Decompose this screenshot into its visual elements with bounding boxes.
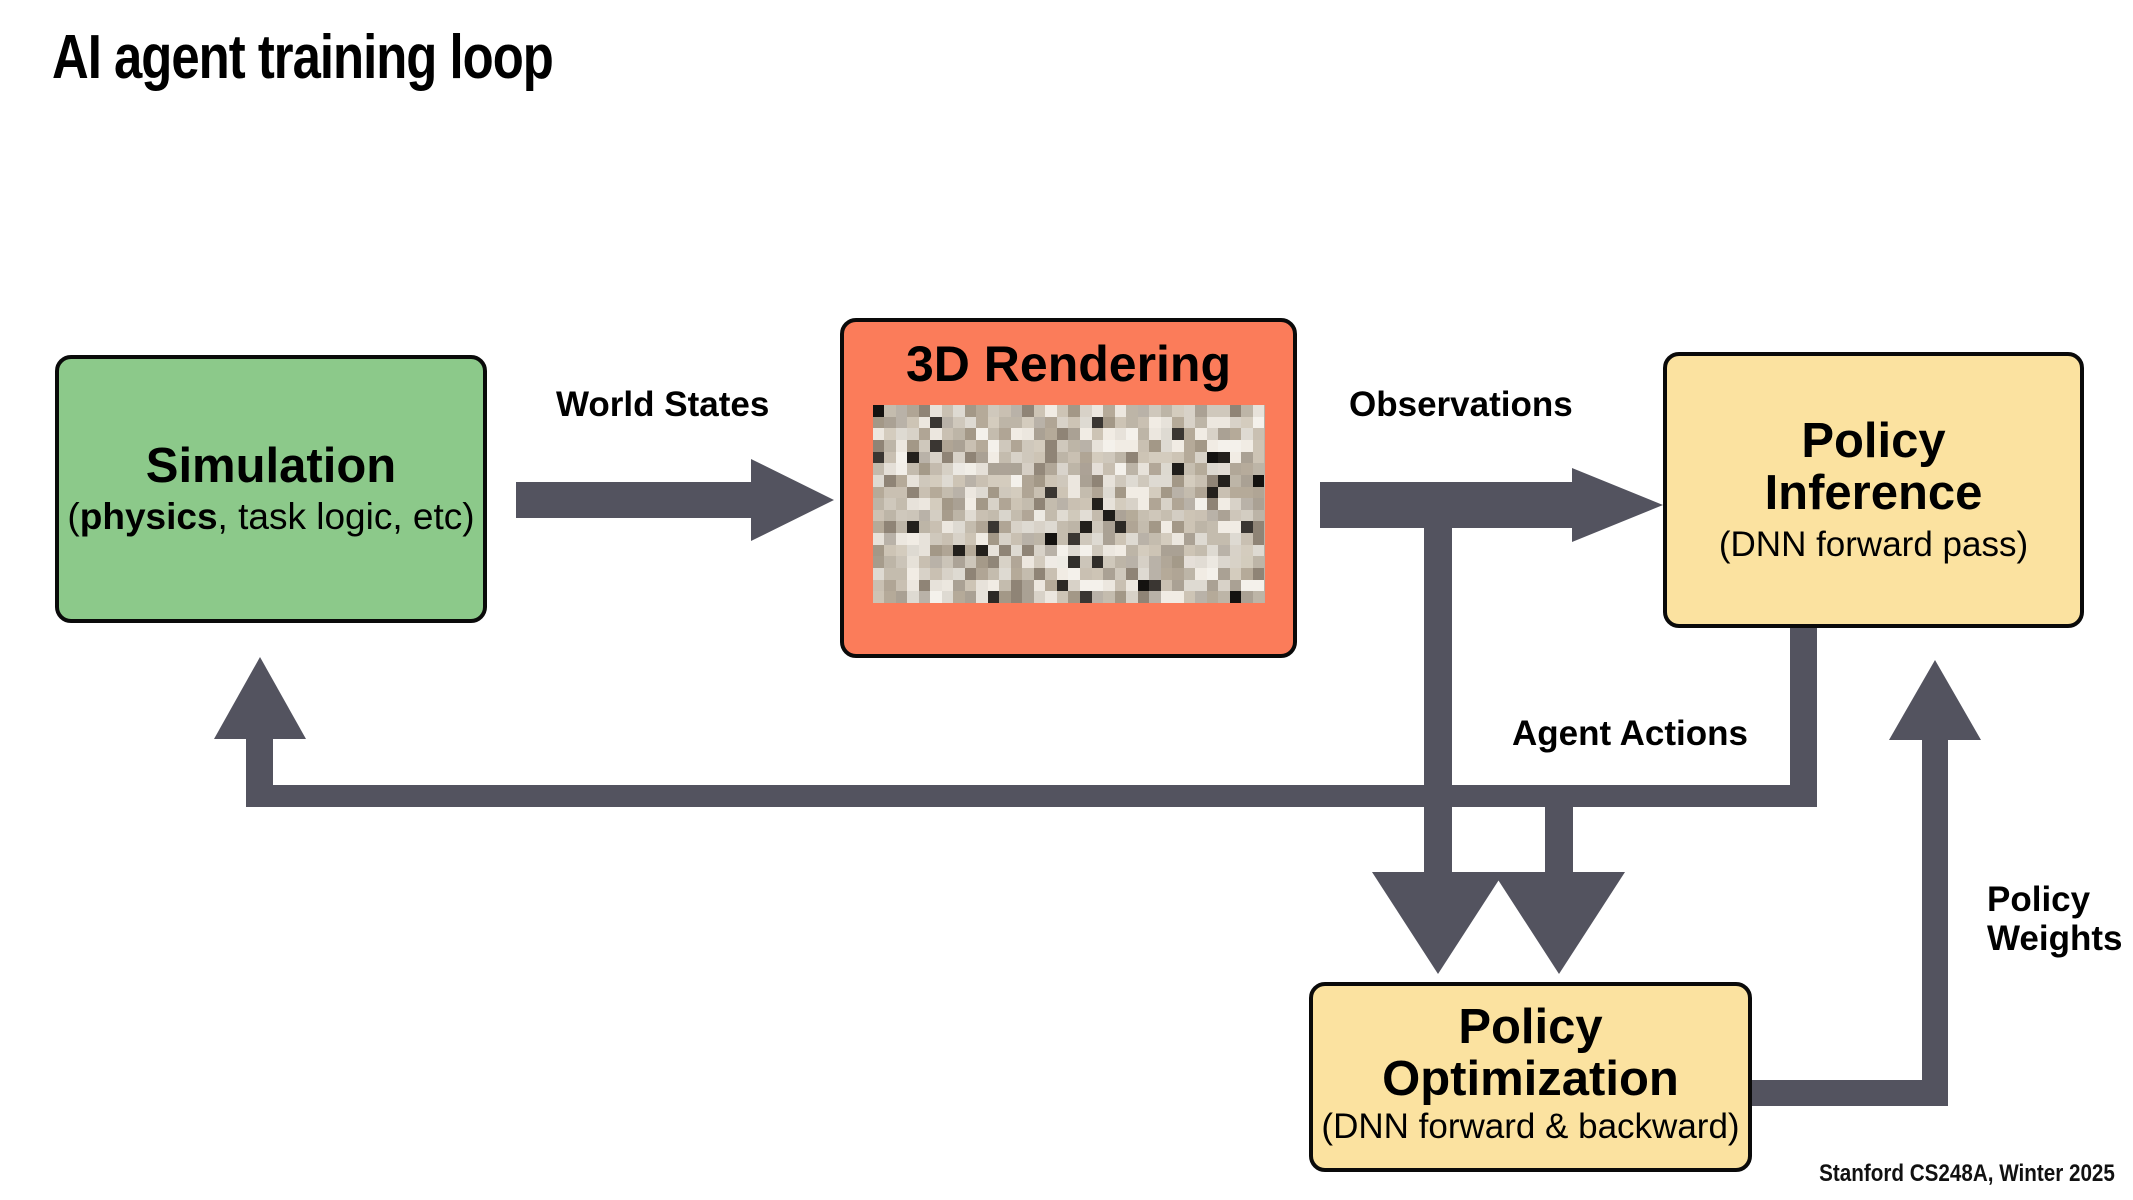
connector-agent-actions-bus	[246, 785, 1817, 807]
node-policy-inference-subtitle: (DNN forward pass)	[1719, 526, 2028, 565]
node-policy-inference[interactable]: Policy Inference (DNN forward pass)	[1663, 352, 2084, 628]
connector-agent-actions-down	[1790, 628, 1817, 788]
edge-label-observations: Observations	[1349, 385, 1573, 424]
connector-observations-branch	[1424, 520, 1452, 788]
arrow-observations	[1320, 468, 1665, 548]
node-policy-optimization-subtitle: (DNN forward & backward)	[1321, 1108, 1739, 1147]
node-policy-inference-title-line2: Inference	[1765, 468, 1983, 520]
node-simulation-subtitle: (physics, task logic, etc)	[67, 497, 474, 538]
node-policy-optimization[interactable]: Policy Optimization (DNN forward & backw…	[1309, 982, 1752, 1172]
arrow-agent-actions-up-head	[214, 657, 306, 741]
node-policy-optimization-title-line2: Optimization	[1382, 1054, 1679, 1106]
page-title: AI agent training loop	[52, 22, 553, 93]
node-simulation-subtitle-suffix: , task logic, etc)	[218, 496, 475, 537]
footer-credit: Stanford CS248A, Winter 2025	[1819, 1160, 2115, 1188]
edge-label-policy-weights: Policy Weights	[1987, 880, 2122, 958]
edge-label-world-states: World States	[556, 385, 769, 424]
connector-policy-weights-horizontal	[1752, 1080, 1948, 1106]
slide-canvas: AI agent training loop World States Obse…	[0, 0, 2133, 1200]
connector-policy-weights-vertical	[1922, 718, 1948, 1084]
edge-label-policy-weights-line2: Weights	[1987, 919, 2122, 958]
node-rendering-title: 3D Rendering	[906, 338, 1231, 391]
connector-observations-branch-lower	[1424, 805, 1452, 880]
edge-label-policy-weights-line1: Policy	[1987, 880, 2090, 919]
connector-agent-actions-branch-down	[1545, 805, 1573, 880]
render-preview-image	[873, 405, 1265, 603]
node-policy-inference-title-line1: Policy	[1801, 416, 1945, 468]
node-simulation-subtitle-bold: physics	[80, 496, 218, 537]
arrow-policy-weights-up-head	[1889, 660, 1981, 742]
node-simulation-subtitle-prefix: (	[67, 496, 79, 537]
edge-label-agent-actions: Agent Actions	[1512, 714, 1748, 753]
node-policy-optimization-title-line1: Policy	[1458, 1002, 1602, 1054]
arrow-world-states	[516, 455, 836, 545]
arrow-agent-actions-down-head	[1493, 872, 1625, 976]
node-simulation-title: Simulation	[146, 441, 396, 493]
node-rendering[interactable]: 3D Rendering	[840, 318, 1297, 658]
arrow-observations-down-head	[1372, 872, 1504, 976]
node-simulation[interactable]: Simulation (physics, task logic, etc)	[55, 355, 487, 623]
